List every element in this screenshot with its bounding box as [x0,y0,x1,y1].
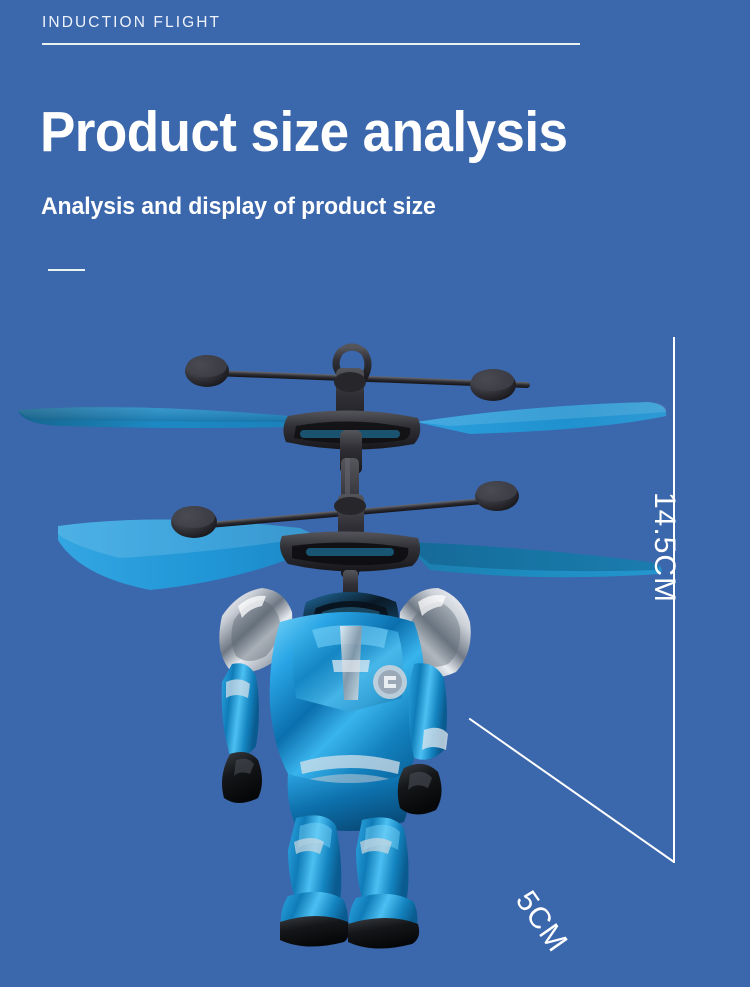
right-fist [398,764,442,815]
eyebrow-row: INDUCTION FLIGHT [42,13,580,45]
left-foot [280,916,349,947]
page-title: Product size analysis [40,98,567,166]
right-foot [348,918,419,949]
upper-rotor [18,347,666,474]
product-illustration [0,330,750,950]
left-arm [222,663,259,757]
page-subtitle: Analysis and display of product size [41,192,436,222]
eyebrow-label: INDUCTION FLIGHT [42,13,580,32]
robot-figure [219,588,470,949]
product-size-analysis-page: INDUCTION FLIGHT Product size analysis A… [0,0,750,987]
height-dimension-label: 14.5CM [647,492,681,603]
eyebrow-divider [42,43,580,45]
accent-dash [48,269,85,271]
lower-rotor [58,481,662,590]
